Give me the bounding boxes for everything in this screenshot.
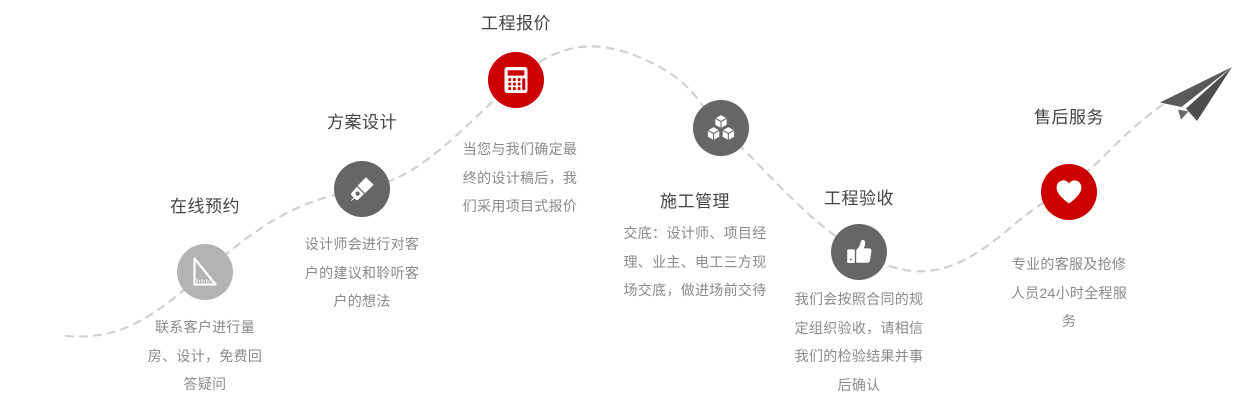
step-desc-line: 交底：设计师、项目经 xyxy=(600,219,790,248)
step-desc-line: 专业的客服及抢修 xyxy=(984,250,1154,279)
step-node-2[interactable] xyxy=(334,161,390,217)
step-title-2: 方案设计 xyxy=(287,112,437,134)
step-desc-3: 当您与我们确定最 终的设计稿后，我 们采用项目式报价 xyxy=(435,135,605,221)
triangle-ruler-icon xyxy=(188,255,222,289)
step-title-1: 在线预约 xyxy=(130,196,280,218)
step-desc-line: 人员24小时全程服 xyxy=(984,279,1154,308)
step-desc-line: 联系客户进行量 xyxy=(120,313,290,342)
step-node-3[interactable] xyxy=(488,52,544,108)
step-desc-1: 联系客户进行量 房、设计，免费回 答疑问 xyxy=(120,313,290,399)
step-node-1[interactable] xyxy=(177,244,233,300)
calculator-icon xyxy=(500,64,532,96)
step-desc-6: 专业的客服及抢修 人员24小时全程服 务 xyxy=(984,250,1154,336)
step-desc-line: 理、业主、电工三方现 xyxy=(600,248,790,277)
step-title-6: 售后服务 xyxy=(994,107,1144,129)
step-title-3: 工程报价 xyxy=(441,13,591,35)
step-desc-line: 当您与我们确定最 xyxy=(435,135,605,164)
step-desc-line: 答疑问 xyxy=(120,370,290,399)
paper-plane-icon xyxy=(1148,62,1240,136)
step-title-5: 工程验收 xyxy=(784,188,934,210)
step-desc-line: 房、设计，免费回 xyxy=(120,342,290,371)
step-desc-5: 我们会按照合同的规 定组织验收，请相信 我们的检验结果并事 后确认 xyxy=(769,285,949,399)
heart-icon xyxy=(1053,176,1085,208)
step-desc-line: 设计师会进行对客 xyxy=(277,230,447,259)
step-node-5[interactable] xyxy=(831,224,887,280)
step-desc-4: 交底：设计师、项目经 理、业主、电工三方现 场交底，做进场前交待 xyxy=(600,193,790,305)
step-desc-line: 务 xyxy=(984,307,1154,336)
step-desc-line: 户的想法 xyxy=(277,287,447,316)
step-desc-line: 后确认 xyxy=(769,371,949,400)
step-desc-line: 我们的检验结果并事 xyxy=(769,342,949,371)
step-node-6[interactable] xyxy=(1041,164,1097,220)
step-desc-line: 户的建议和聆听客 xyxy=(277,259,447,288)
step-desc-line: 我们会按照合同的规 xyxy=(769,285,949,314)
process-flow-diagram: 在线预约 联系客户进行量 房、设计，免费回 答疑问 方案设计 设计师会进行对客 … xyxy=(0,0,1245,402)
step-desc-line: 终的设计稿后，我 xyxy=(435,164,605,193)
step-desc-line: 场交底，做进场前交待 xyxy=(600,276,790,305)
cubes-icon xyxy=(704,111,738,145)
step-node-4[interactable] xyxy=(693,100,749,156)
fountain-pen-icon xyxy=(345,172,379,206)
step-desc-line: 定组织验收，请相信 xyxy=(769,314,949,343)
step-desc-2: 设计师会进行对客 户的建议和聆听客 户的想法 xyxy=(277,230,447,316)
thumbs-up-icon xyxy=(843,236,875,268)
step-desc-line: 们采用项目式报价 xyxy=(435,192,605,221)
